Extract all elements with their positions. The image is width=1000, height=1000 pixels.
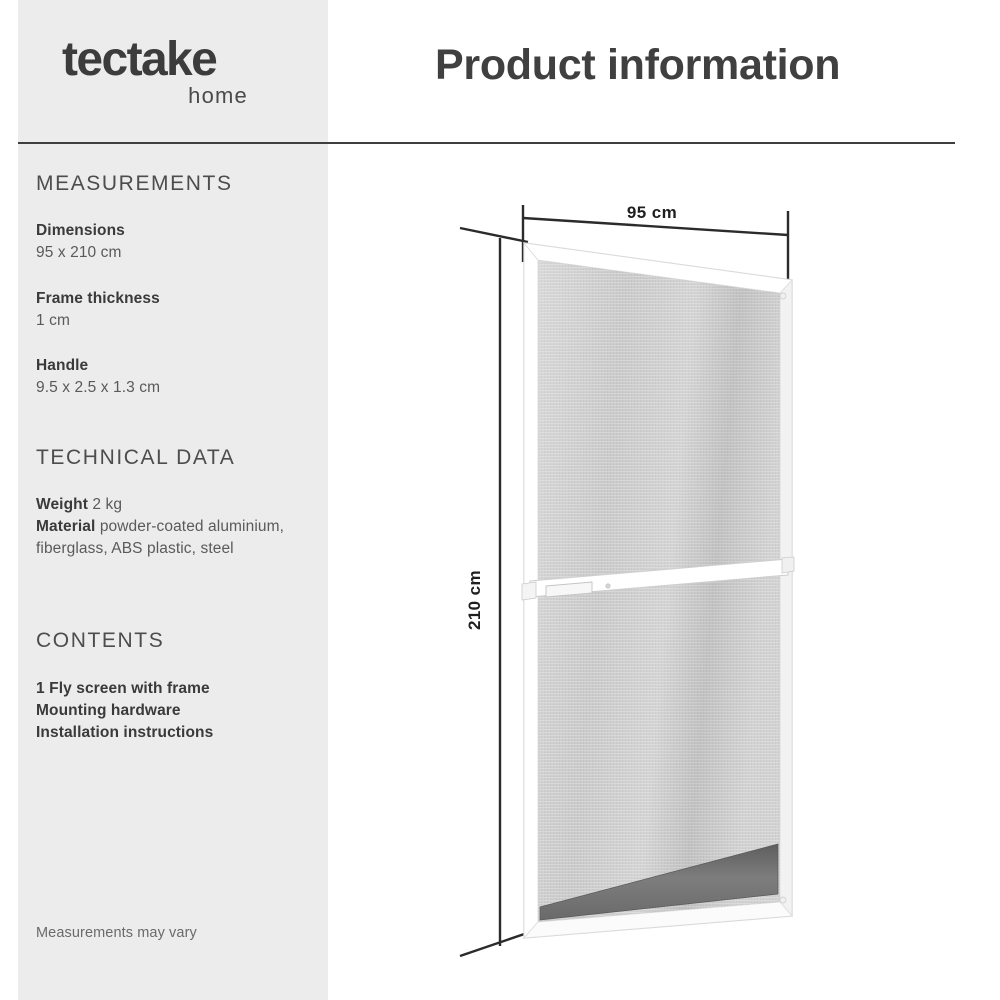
corner-bracket-icon bbox=[780, 897, 786, 903]
tech-weight-label: Weight bbox=[36, 496, 88, 513]
page-title: Product information bbox=[435, 41, 840, 90]
tech-weight-value: 2 kg bbox=[92, 496, 122, 513]
corner-bracket-icon bbox=[780, 293, 786, 299]
spec-handle: Handle 9.5 x 2.5 x 1.3 cm bbox=[36, 355, 306, 399]
width-dimension-label: 95 cm bbox=[627, 203, 677, 222]
spec-frame-thickness-label: Frame thickness bbox=[36, 288, 306, 310]
spec-dimensions-value: 95 x 210 cm bbox=[36, 244, 122, 261]
tech-material-label: Material bbox=[36, 518, 95, 535]
section-heading-measurements: MEASUREMENTS bbox=[36, 172, 233, 196]
spec-handle-value: 9.5 x 2.5 x 1.3 cm bbox=[36, 379, 160, 396]
section-heading-technical-data: TECHNICAL DATA bbox=[36, 446, 235, 470]
contents-list: 1 Fly screen with frame Mounting hardwar… bbox=[36, 678, 306, 744]
fly-screen-door bbox=[522, 243, 794, 938]
spec-dimensions-label: Dimensions bbox=[36, 220, 306, 242]
spec-frame-thickness-value: 1 cm bbox=[36, 312, 70, 329]
measurements-disclaimer: Measurements may vary bbox=[36, 922, 306, 944]
product-illustration: 95 cm 210 cm bbox=[340, 150, 1000, 1000]
sidebar-content: tectake home MEASUREMENTS Dimensions 95 … bbox=[18, 0, 328, 1000]
spec-handle-label: Handle bbox=[36, 355, 306, 377]
spec-dimensions: Dimensions 95 x 210 cm bbox=[36, 220, 306, 264]
crossbar-cap-right bbox=[782, 557, 794, 573]
brand-subtitle: home bbox=[62, 85, 248, 107]
header-divider bbox=[18, 142, 955, 144]
crossbar-cap-left bbox=[522, 582, 536, 600]
contents-item: Mounting hardware bbox=[36, 700, 306, 722]
frame-right-stile bbox=[780, 280, 792, 916]
contents-item: Installation instructions bbox=[36, 722, 306, 744]
tech-row-material: Material powder-coated aluminium, fiberg… bbox=[36, 516, 306, 560]
handle-screw-icon bbox=[606, 584, 610, 588]
brand-name: tectake bbox=[62, 36, 302, 84]
contents-item: 1 Fly screen with frame bbox=[36, 678, 306, 700]
section-heading-contents: CONTENTS bbox=[36, 629, 164, 653]
product-diagram-svg: 95 cm 210 cm bbox=[340, 150, 1000, 1000]
product-information-sheet: tectake home MEASUREMENTS Dimensions 95 … bbox=[0, 0, 1000, 1000]
sidebar-panel: tectake home MEASUREMENTS Dimensions 95 … bbox=[18, 0, 328, 1000]
height-dimension-label: 210 cm bbox=[465, 570, 484, 630]
technical-data-list: Weight 2 kg Material powder-coated alumi… bbox=[36, 494, 306, 560]
spec-frame-thickness: Frame thickness 1 cm bbox=[36, 288, 306, 332]
tech-row-weight: Weight 2 kg bbox=[36, 494, 306, 516]
brand-logo: tectake home bbox=[62, 36, 302, 107]
